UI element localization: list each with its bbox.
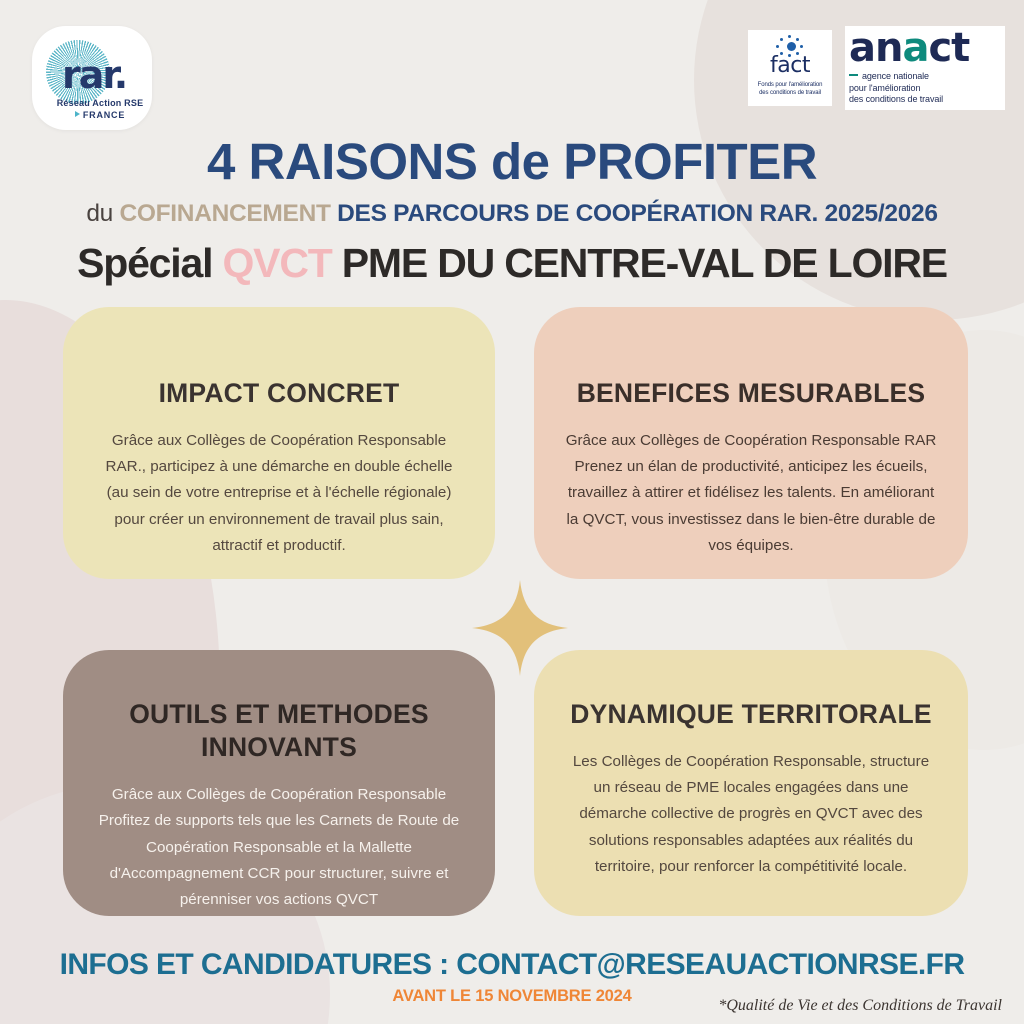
rar-wordmark: rar. (62, 56, 126, 94)
rar-logo: rar. Réseau Action RSE FRANCE (32, 26, 152, 130)
anact-word-part3: ct (928, 25, 969, 71)
page-subtitle: du COFINANCEMENT DES PARCOURS DE COOPÉRA… (0, 200, 1024, 228)
poster-canvas: rar. Réseau Action RSE FRANCE fact Fonds… (0, 0, 1024, 1024)
fact-wordmark: fact (748, 55, 832, 77)
anact-tagline: agence nationale pour l'amélioration des… (849, 71, 1001, 106)
subtitle-du: du (86, 200, 113, 227)
special-qvct: QVCT (222, 240, 331, 286)
four-point-star-icon (470, 578, 570, 678)
starburst-dots-icon (770, 35, 810, 55)
page-special-line: Spécial QVCT PME DU CENTRE-VAL DE LOIRE (0, 240, 1024, 287)
card-impact-concret: IMPACT CONCRET Grâce aux Collèges de Coo… (63, 307, 495, 579)
card-impact-title: IMPACT CONCRET (93, 333, 465, 410)
anact-logo: anact agence nationale pour l'améliorati… (845, 26, 1005, 110)
fact-tagline: Fonds pour l'amélioration des conditions… (748, 81, 832, 97)
fact-tagline-line2: des conditions de travail (748, 89, 832, 97)
anact-tagline-line3: des conditions de travail (849, 94, 1001, 106)
anact-tagline-line1-text: agence nationale (862, 71, 929, 81)
rar-tagline-line1: Réseau Action RSE (54, 98, 146, 108)
fact-logo: fact Fonds pour l'amélioration des condi… (748, 30, 832, 106)
anact-word-part1: an (849, 25, 902, 71)
anact-wordmark: anact (849, 28, 1001, 68)
dash-icon (849, 74, 858, 76)
card-outils-body: Grâce aux Collèges de Coopération Respon… (93, 782, 465, 913)
subtitle-rest: DES PARCOURS DE COOPÉRATION RAR. 2025/20… (337, 200, 938, 227)
special-prefix: Spécial (77, 240, 212, 286)
footer-qvct-note: *Qualité de Vie et des Conditions de Tra… (718, 997, 1002, 1015)
subtitle-cofinancement: COFINANCEMENT (119, 200, 330, 227)
anact-tagline-line2: pour l'amélioration (849, 83, 1001, 95)
card-benefices-title: BENEFICES MESURABLES (564, 333, 938, 410)
card-benefices-mesurables: BENEFICES MESURABLES Grâce aux Collèges … (534, 307, 968, 579)
play-triangle-icon (75, 111, 80, 117)
special-rest: PME DU CENTRE-VAL DE LOIRE (342, 240, 947, 286)
rar-tagline-line2: FRANCE (54, 110, 146, 120)
card-dynamique-title: DYNAMIQUE TERRITORALE (564, 676, 938, 731)
fact-tagline-line1: Fonds pour l'amélioration (748, 81, 832, 89)
card-impact-body: Grâce aux Collèges de Coopération Respon… (93, 428, 465, 559)
card-dynamique-territorale: DYNAMIQUE TERRITORALE Les Collèges de Co… (534, 650, 968, 916)
page-title: 4 RAISONS de PROFITER (0, 132, 1024, 191)
rar-country-label: FRANCE (83, 110, 125, 120)
anact-word-part2: a (902, 25, 928, 71)
card-outils-et-methodes: OUTILS ET METHODES INNOVANTS Grâce aux C… (63, 650, 495, 916)
anact-tagline-line1: agence nationale (849, 71, 1001, 83)
card-benefices-body: Grâce aux Collèges de Coopération Respon… (564, 428, 938, 559)
card-outils-title: OUTILS ET METHODES INNOVANTS (93, 676, 465, 764)
card-dynamique-body: Les Collèges de Coopération Responsable,… (564, 749, 938, 880)
footer-contact[interactable]: INFOS ET CANDIDATURES : CONTACT@RESEAUAC… (0, 948, 1024, 982)
